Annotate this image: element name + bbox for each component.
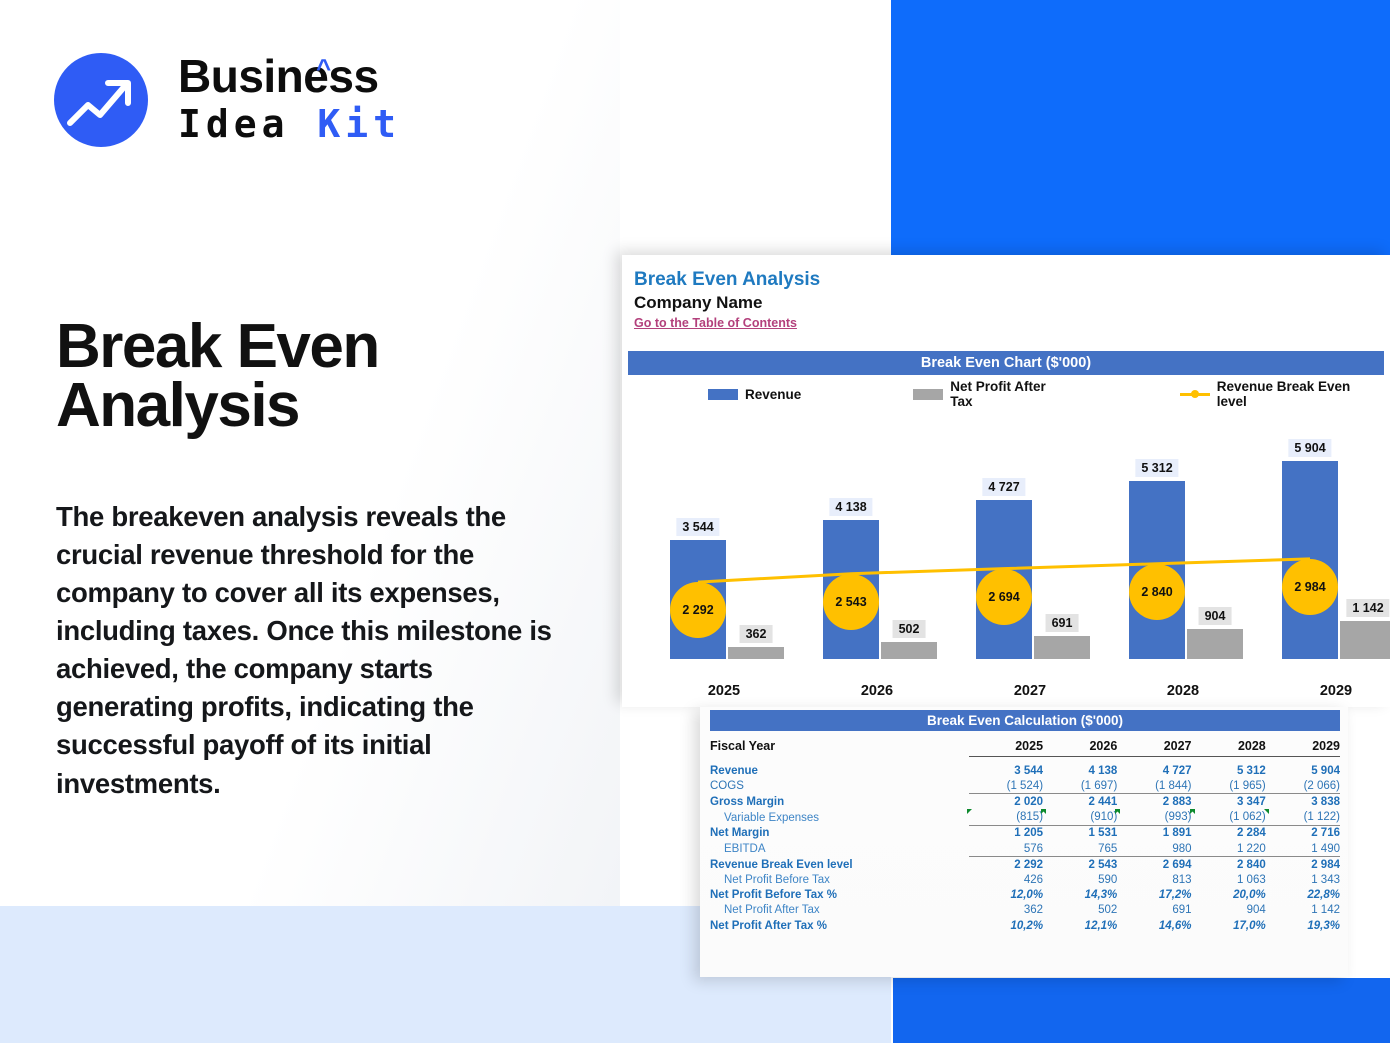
cell: 4 727 bbox=[1117, 763, 1191, 778]
cell: 2 284 bbox=[1192, 825, 1266, 841]
legend-swatch-npat-icon bbox=[913, 389, 943, 400]
brand-logo: Business ^ Idea Kit bbox=[54, 48, 434, 158]
cell: (1 965) bbox=[1192, 778, 1266, 794]
cell: (1 122) bbox=[1266, 810, 1340, 826]
row-label-net-profit-after-tax-pct: Net Profit After Tax % bbox=[710, 918, 969, 933]
table-row: Revenue Break Even level 2 292 2 543 2 6… bbox=[710, 857, 1340, 873]
breakeven-marker-2028: 2 840 bbox=[1129, 564, 1185, 620]
row-label-net-margin: Net Margin bbox=[710, 825, 969, 841]
logo-growth-arrow-icon bbox=[54, 53, 148, 147]
row-label-net-profit-after-tax: Net Profit After Tax bbox=[710, 903, 969, 918]
chart-legend: Revenue Net Profit After Tax Revenue Bre… bbox=[628, 383, 1384, 405]
legend-label-revenue: Revenue bbox=[745, 387, 801, 402]
cell: 3 838 bbox=[1266, 794, 1340, 810]
table-row: Net Margin 1 205 1 531 1 891 2 284 2 716 bbox=[710, 825, 1340, 841]
row-label-gross-margin: Gross Margin bbox=[710, 794, 969, 810]
cell: (1 062) bbox=[1192, 810, 1266, 826]
cell: 19,3% bbox=[1266, 918, 1340, 933]
breakeven-marker-2025: 2 292 bbox=[670, 582, 726, 638]
row-label-cogs: COGS bbox=[710, 778, 969, 794]
legend-item-net-profit-after-tax: Net Profit After Tax bbox=[913, 379, 1071, 409]
cell: 2 716 bbox=[1266, 825, 1340, 841]
cell: (1 697) bbox=[1043, 778, 1117, 794]
breakeven-marker-2027: 2 694 bbox=[976, 569, 1032, 625]
break-even-calculation-panel: Break Even Calculation ($'000) Fiscal Ye… bbox=[700, 707, 1348, 977]
table-of-contents-link[interactable]: Go to the Table of Contents bbox=[634, 316, 797, 330]
table-header-2029: 2029 bbox=[1266, 737, 1340, 756]
cell: 1 891 bbox=[1117, 825, 1191, 841]
logo-caret-icon: ^ bbox=[316, 42, 331, 94]
cell: 2 883 bbox=[1117, 794, 1191, 810]
cell: 1 142 bbox=[1266, 903, 1340, 918]
cell: 980 bbox=[1117, 841, 1191, 857]
breakeven-marker-2026: 2 543 bbox=[823, 574, 879, 630]
cell: 3 347 bbox=[1192, 794, 1266, 810]
cell: 17,0% bbox=[1192, 918, 1266, 933]
logo-text-idea: Idea bbox=[178, 102, 317, 146]
cell: (993) bbox=[1117, 810, 1191, 826]
cell: (1 524) bbox=[969, 778, 1043, 794]
breakeven-marker-2029: 2 984 bbox=[1282, 559, 1338, 615]
cell: 2 694 bbox=[1117, 857, 1191, 873]
row-label-ebitda: EBITDA bbox=[710, 841, 969, 857]
cell: 10,2% bbox=[969, 918, 1043, 933]
table-row: Revenue 3 544 4 138 4 727 5 312 5 904 bbox=[710, 763, 1340, 778]
cell: (2 066) bbox=[1266, 778, 1340, 794]
cell: 1 531 bbox=[1043, 825, 1117, 841]
cell: 1 343 bbox=[1266, 872, 1340, 887]
cell: 20,0% bbox=[1192, 888, 1266, 903]
table-header-2026: 2026 bbox=[1043, 737, 1117, 756]
cell: 502 bbox=[1043, 903, 1117, 918]
cell: 2 292 bbox=[969, 857, 1043, 873]
table-row: Net Profit Before Tax % 12,0% 14,3% 17,2… bbox=[710, 888, 1340, 903]
cell: 4 138 bbox=[1043, 763, 1117, 778]
cell: (910) bbox=[1043, 810, 1117, 826]
cell: 2 840 bbox=[1192, 857, 1266, 873]
cell: 3 544 bbox=[969, 763, 1043, 778]
cell: 765 bbox=[1043, 841, 1117, 857]
table-row: COGS (1 524) (1 697) (1 844) (1 965) (2 … bbox=[710, 778, 1340, 794]
legend-item-break-even-level: Revenue Break Even level bbox=[1180, 379, 1384, 409]
row-label-net-profit-before-tax-pct: Net Profit Before Tax % bbox=[710, 888, 969, 903]
cell: 22,8% bbox=[1266, 888, 1340, 903]
table-header-fiscal-year: Fiscal Year bbox=[710, 737, 969, 756]
logo-text-kit: Kit bbox=[317, 102, 401, 146]
row-label-variable-expenses: Variable Expenses bbox=[710, 810, 969, 826]
table-row: Net Profit After Tax 362 502 691 904 1 1… bbox=[710, 903, 1340, 918]
cell: 5 312 bbox=[1192, 763, 1266, 778]
table-header-row: Fiscal Year 2025 2026 2027 2028 2029 bbox=[710, 737, 1340, 756]
chart-plot-area: 3 544 362 4 138 502 4 727 691 5 312 904 … bbox=[628, 415, 1390, 705]
cell: (1 844) bbox=[1117, 778, 1191, 794]
logo-line-ideakit: Idea Kit bbox=[178, 102, 401, 146]
cell: 426 bbox=[969, 872, 1043, 887]
cell: 1 205 bbox=[969, 825, 1043, 841]
legend-swatch-breakeven-line-icon bbox=[1180, 389, 1210, 400]
cell: 362 bbox=[969, 903, 1043, 918]
row-label-revenue-break-even-level: Revenue Break Even level bbox=[710, 857, 969, 873]
cell: 813 bbox=[1117, 872, 1191, 887]
cell: (815) bbox=[969, 810, 1043, 826]
table-header-2027: 2027 bbox=[1117, 737, 1191, 756]
table-row: Gross Margin 2 020 2 441 2 883 3 347 3 8… bbox=[710, 794, 1340, 810]
sheet-company-name: Company Name bbox=[634, 293, 762, 313]
cell: 1 220 bbox=[1192, 841, 1266, 857]
table-row: Variable Expenses (815) (910) (993) (1 0… bbox=[710, 810, 1340, 826]
cell: 17,2% bbox=[1117, 888, 1191, 903]
logo-text-business: Business bbox=[178, 50, 379, 102]
cell: 1 490 bbox=[1266, 841, 1340, 857]
cell: 2 543 bbox=[1043, 857, 1117, 873]
cell: 2 020 bbox=[969, 794, 1043, 810]
cell: 691 bbox=[1117, 903, 1191, 918]
table-row: EBITDA 576 765 980 1 220 1 490 bbox=[710, 841, 1340, 857]
page-title: Break Even Analysis bbox=[56, 318, 576, 436]
legend-item-revenue: Revenue bbox=[708, 387, 801, 402]
table-header-2025: 2025 bbox=[969, 737, 1043, 756]
table-row: Net Profit After Tax % 10,2% 12,1% 14,6%… bbox=[710, 918, 1340, 933]
cell: 14,6% bbox=[1117, 918, 1191, 933]
cell: 590 bbox=[1043, 872, 1117, 887]
legend-label-npat: Net Profit After Tax bbox=[950, 379, 1071, 409]
table-title: Break Even Calculation ($'000) bbox=[710, 710, 1340, 731]
logo-line-business: Business ^ bbox=[178, 50, 401, 102]
row-label-net-profit-before-tax: Net Profit Before Tax bbox=[710, 872, 969, 887]
table-row: Net Profit Before Tax 426 590 813 1 063 … bbox=[710, 872, 1340, 887]
legend-label-breakeven: Revenue Break Even level bbox=[1217, 379, 1384, 409]
cell: 2 441 bbox=[1043, 794, 1117, 810]
table-header-2028: 2028 bbox=[1192, 737, 1266, 756]
sheet-title: Break Even Analysis bbox=[634, 269, 820, 291]
background-blue-top-block bbox=[891, 0, 1390, 256]
cell: 2 984 bbox=[1266, 857, 1340, 873]
legend-swatch-revenue-icon bbox=[708, 389, 738, 400]
breakeven-trend-line bbox=[628, 415, 1390, 705]
background-blue-bottomright-block bbox=[893, 978, 1390, 1043]
break-even-calculation-table: Fiscal Year 2025 2026 2027 2028 2029 Rev… bbox=[710, 737, 1340, 933]
cell: 1 063 bbox=[1192, 872, 1266, 887]
cell: 904 bbox=[1192, 903, 1266, 918]
cell: 5 904 bbox=[1266, 763, 1340, 778]
break-even-chart-panel: Break Even Analysis Company Name Go to t… bbox=[622, 255, 1390, 707]
cell: 12,1% bbox=[1043, 918, 1117, 933]
cell: 14,3% bbox=[1043, 888, 1117, 903]
chart-title: Break Even Chart ($'000) bbox=[628, 351, 1384, 375]
cell: 12,0% bbox=[969, 888, 1043, 903]
row-label-revenue: Revenue bbox=[710, 763, 969, 778]
page-description: The breakeven analysis reveals the cruci… bbox=[56, 498, 556, 803]
cell: 576 bbox=[969, 841, 1043, 857]
